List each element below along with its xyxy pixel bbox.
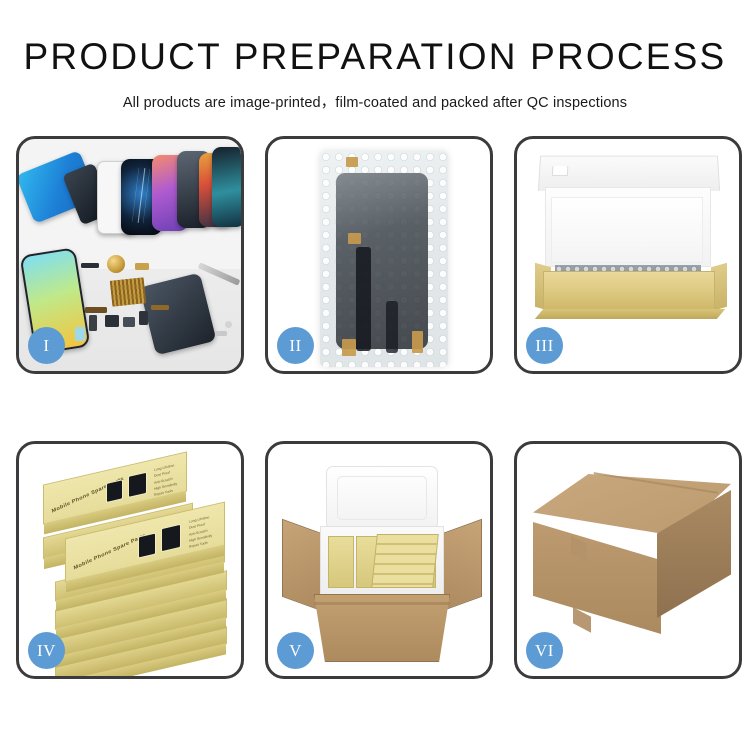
step-panel-3: III <box>514 136 742 374</box>
small-part-8 <box>75 327 85 341</box>
small-part-1 <box>81 263 99 268</box>
bubble-wrap-sleeve <box>320 151 448 367</box>
kraft-box-front <box>543 271 715 311</box>
page-subtitle: All products are image-printed，film-coat… <box>0 91 750 112</box>
step-badge-5: V <box>277 632 314 669</box>
white-foam-sheet <box>551 197 703 263</box>
process-steps-grid: I II <box>16 136 734 679</box>
yellow-box-1 <box>328 536 354 588</box>
tape-strip-4 <box>412 331 423 353</box>
inner-lcd-screen <box>336 173 428 349</box>
small-part-2 <box>135 263 149 270</box>
small-part-10 <box>215 331 227 336</box>
small-part-7 <box>139 311 148 325</box>
small-part-11 <box>225 321 232 328</box>
product-preparation-infographic: PRODUCT PREPARATION PROCESS All products… <box>0 0 750 750</box>
carton-front-face <box>533 522 661 634</box>
flex-cable-main <box>356 247 371 351</box>
box-label-screen-rear-1 <box>106 479 123 503</box>
step-panel-6: VI <box>514 441 742 679</box>
small-part-5 <box>105 315 119 327</box>
small-part-9 <box>151 305 169 310</box>
page-title: PRODUCT PREPARATION PROCESS <box>0 36 750 79</box>
foam-lid <box>326 466 438 530</box>
box-lid <box>538 156 720 191</box>
box-label-screen-front-1 <box>138 532 156 558</box>
teal-gradient-phone <box>212 147 241 227</box>
box-label-bullets-front: Long Lifetime Dust Proof Anti-Scratch Hi… <box>189 513 212 550</box>
step-badge-2: II <box>277 327 314 364</box>
small-part-3 <box>85 307 107 313</box>
step-panel-1: I <box>16 136 244 374</box>
step-badge-4: IV <box>28 632 65 669</box>
gold-coin-part <box>107 255 125 273</box>
tape-strip-2 <box>348 233 361 244</box>
small-part-6 <box>123 317 135 327</box>
step-badge-3: III <box>526 327 563 364</box>
step-badge-6: VI <box>526 632 563 669</box>
tape-strip-3 <box>342 339 356 356</box>
tape-strip-1 <box>346 157 358 167</box>
box-stack: Mobile Phone Spare Parts Long Lifetime D… <box>25 462 237 662</box>
step-panel-4: Mobile Phone Spare Parts Long Lifetime D… <box>16 441 244 679</box>
small-part-4 <box>89 315 97 331</box>
step-badge-1: I <box>28 327 65 364</box>
yellow-box-stack <box>371 534 439 588</box>
step-panel-5: V <box>265 441 493 679</box>
gold-contact-grid <box>110 277 147 306</box>
flex-cable-secondary <box>386 301 398 353</box>
box-label-screen-rear-2 <box>128 472 147 498</box>
header: PRODUCT PREPARATION PROCESS All products… <box>0 0 750 112</box>
carton-edge-line <box>314 602 450 605</box>
step-panel-2: II <box>265 136 493 374</box>
box-label-screen-front-2 <box>161 524 181 553</box>
